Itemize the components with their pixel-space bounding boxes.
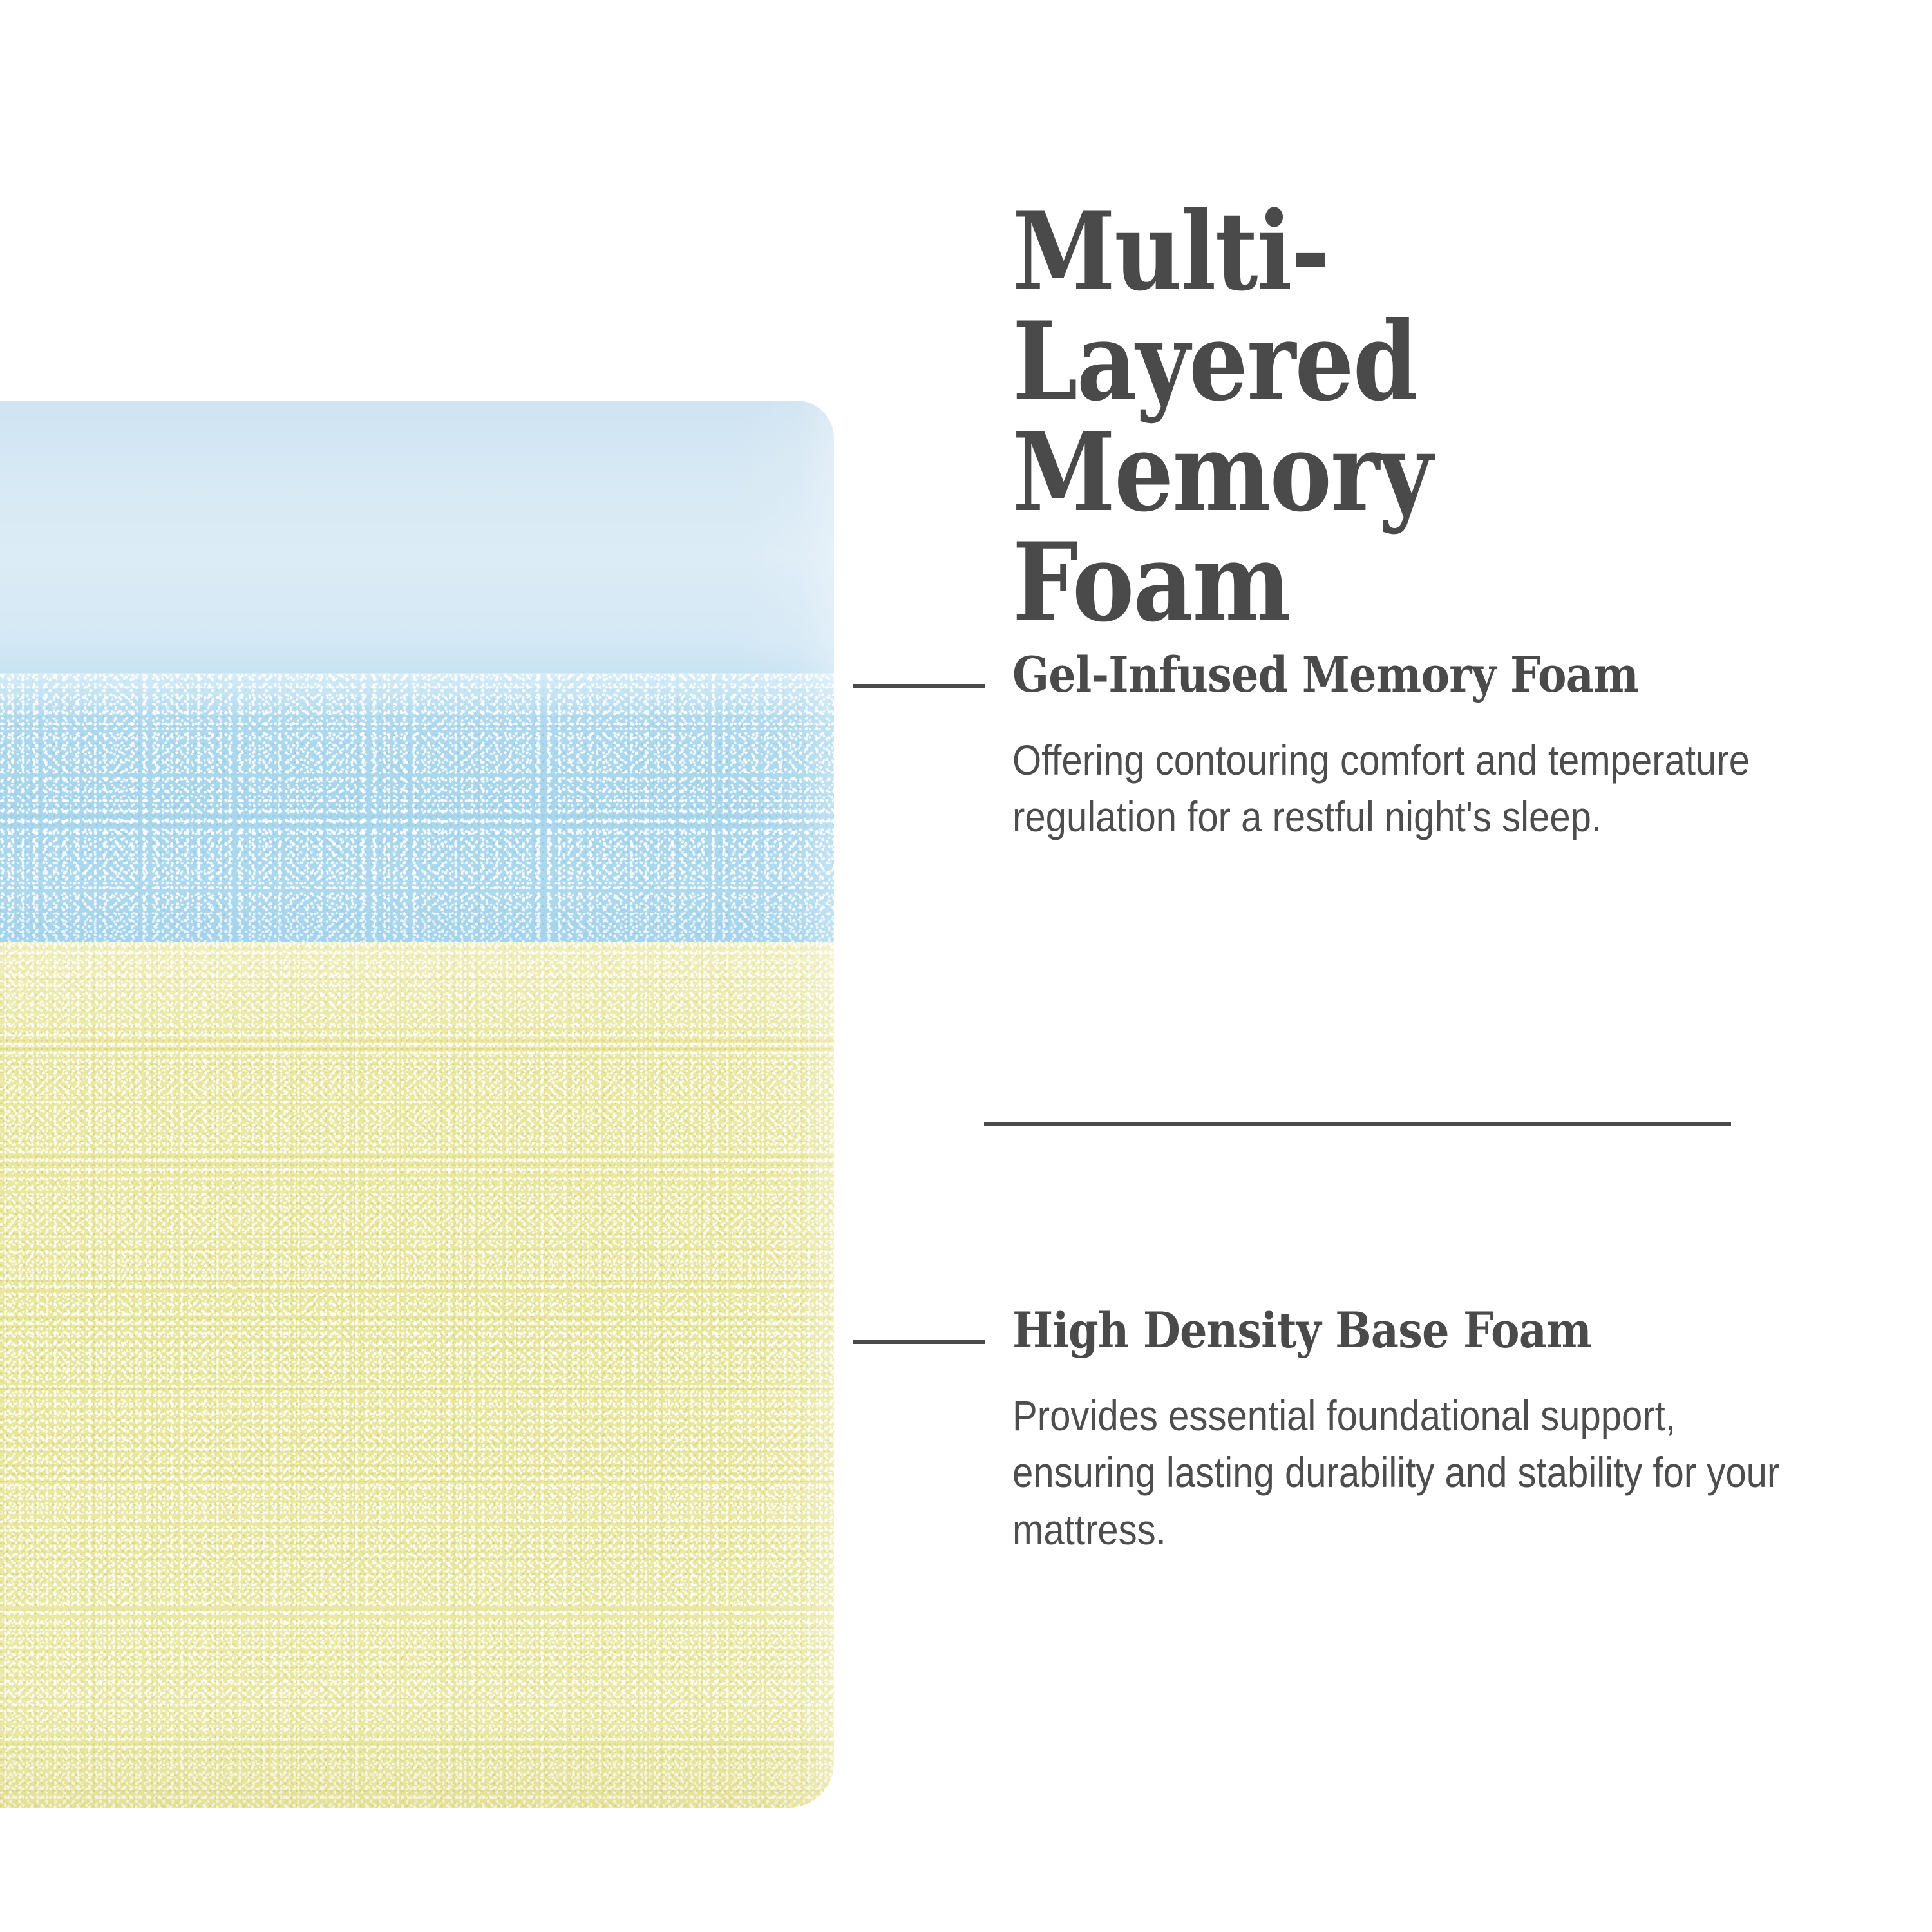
page-title: Multi-Layered Memory Foam — [1012, 196, 1710, 638]
feature-block-gel-infused-memory-foam: Gel-Infused Memory Foam Offering contour… — [1012, 650, 1817, 712]
dash-marker-icon — [853, 1340, 985, 1344]
feature-block-high-density-base-foam: High Density Base Foam Provides essentia… — [1012, 1306, 1817, 1368]
foam-layer-top-surface — [0, 401, 834, 684]
foam-layer-high-density-base — [0, 942, 834, 1808]
dash-marker-icon — [853, 684, 985, 688]
feature-title: High Density Base Foam — [1012, 1306, 1591, 1355]
feature-heading-row: Gel-Infused Memory Foam — [1012, 650, 1817, 712]
feature-description: Offering contouring comfort and temperat… — [1012, 732, 1806, 846]
infographic-canvas: Multi-Layered Memory Foam Gel-Infused Me… — [0, 0, 1932, 1932]
feature-description: Provides essential foundational support,… — [1012, 1387, 1806, 1558]
feature-heading-row: High Density Base Foam — [1012, 1306, 1817, 1368]
memory-foam-block-image — [0, 401, 834, 1808]
foam-layer-gel-infused — [0, 673, 834, 943]
feature-title: Gel-Infused Memory Foam — [1012, 650, 1638, 699]
section-divider — [984, 1122, 1731, 1126]
content-column: Multi-Layered Memory Foam Gel-Infused Me… — [1012, 0, 1837, 1932]
